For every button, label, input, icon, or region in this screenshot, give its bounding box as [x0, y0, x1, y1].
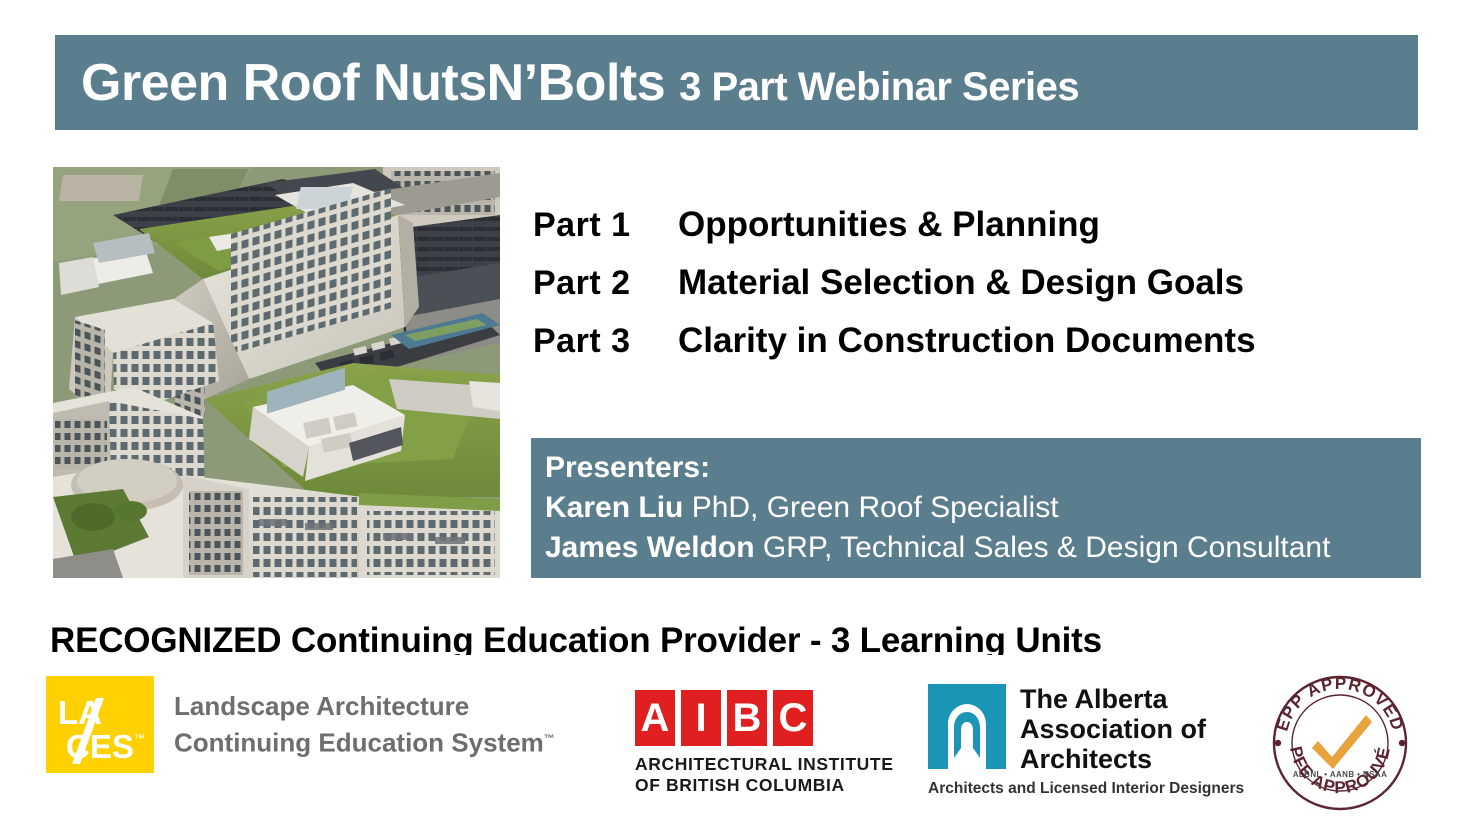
laces-words-line2: Continuing Education System [174, 727, 544, 757]
laces-words-line2-wrap: Continuing Education System™ [174, 723, 555, 760]
accreditation-logo-strip: LA CES ™ Landscape Architecture Continui… [0, 662, 1474, 812]
epp-top-text: EPP APPROVED [1272, 674, 1407, 734]
aibc-mark-icon: A I B C [635, 690, 893, 746]
aibc-logo: A I B C ARCHITECTURAL INSTITUTE OF BRITI… [635, 690, 893, 796]
presenters-panel: Presenters: Karen Liu PhD, Green Roof Sp… [531, 438, 1421, 578]
laces-monogram-icon: LA CES ™ [46, 676, 154, 773]
laces-wordmark: Landscape Architecture Continuing Educat… [174, 690, 555, 760]
part-label: Part 1 [533, 206, 678, 245]
laces-words-tm: ™ [544, 733, 555, 745]
aaa-words-line1: The Alberta [1020, 684, 1206, 714]
slide-title: Green Roof NutsN’Bolts 3 Part Webinar Se… [81, 53, 1079, 113]
aibc-words-line2: OF BRITISH COLUMBIA [635, 775, 893, 796]
aibc-letter-a: A [635, 690, 675, 746]
part-item: Part 1 Opportunities & Planning [533, 205, 1393, 263]
svg-text:™: ™ [134, 733, 145, 745]
green-roof-aerial-photo [53, 167, 500, 578]
aibc-words-line1: ARCHITECTURAL INSTITUTE [635, 754, 893, 775]
part-title: Opportunities & Planning [678, 205, 1100, 245]
part-item: Part 3 Clarity in Construction Documents [533, 321, 1393, 379]
aaa-top-row: The Alberta Association of Architects [928, 684, 1244, 774]
presenter-item: Karen Liu PhD, Green Roof Specialist [545, 488, 1421, 528]
aaa-arch-glyph [928, 684, 1006, 769]
title-banner: Green Roof NutsN’Bolts 3 Part Webinar Se… [55, 35, 1418, 130]
part-title: Clarity in Construction Documents [678, 321, 1256, 361]
svg-text:EPP APPROVED: EPP APPROVED [1272, 674, 1407, 734]
part-label: Part 2 [533, 264, 678, 303]
presenter-role: GRP, Technical Sales & Design Consultant [755, 531, 1331, 564]
laces-words-line1: Landscape Architecture [174, 690, 555, 723]
laces-logo: LA CES ™ Landscape Architecture Continui… [46, 676, 555, 773]
part-label: Part 3 [533, 322, 678, 361]
presenter-name: James Weldon [545, 531, 755, 564]
aaa-subtitle: Architects and Licensed Interior Designe… [928, 780, 1244, 798]
part-item: Part 2 Material Selection & Design Goals [533, 263, 1393, 321]
part-title: Material Selection & Design Goals [678, 263, 1244, 303]
aaa-arch-icon [928, 684, 1006, 769]
laces-mark-icon: LA CES ™ [46, 676, 154, 773]
aibc-letter-i: I [681, 690, 721, 746]
aerial-photo-illustration [53, 167, 500, 578]
slide-title-main: Green Roof NutsN’Bolts [81, 54, 679, 112]
presenter-name: Karen Liu [545, 491, 683, 524]
presenter-item: James Weldon GRP, Technical Sales & Desi… [545, 528, 1421, 568]
slide-title-sub: 3 Part Webinar Series [679, 65, 1079, 109]
aibc-wordmark: ARCHITECTURAL INSTITUTE OF BRITISH COLUM… [635, 754, 893, 796]
recognized-provider-text: RECOGNIZED Continuing Education Provider… [50, 621, 1102, 655]
aibc-letter-b: B [727, 690, 767, 746]
epp-center-text: ALBNL • AANB • NSAA [1293, 770, 1388, 779]
aaa-words-line2: Association of [1020, 714, 1206, 744]
alberta-association-of-architects-logo: The Alberta Association of Architects Ar… [928, 684, 1244, 798]
presenter-role: PhD, Green Roof Specialist [683, 491, 1058, 524]
epp-seal-graphic: EPP APPROVED PFE APPROUVÉ ALBNL • AANB •… [1266, 665, 1414, 813]
aaa-words-line3: Architects [1020, 744, 1206, 774]
presenters-heading: Presenters: [545, 448, 1421, 488]
epp-approved-seal: EPP APPROVED PFE APPROUVÉ ALBNL • AANB •… [1266, 665, 1414, 813]
aaa-wordmark: The Alberta Association of Architects [1020, 684, 1206, 774]
webinar-parts-list: Part 1 Opportunities & Planning Part 2 M… [533, 205, 1393, 379]
aibc-letter-c: C [773, 690, 813, 746]
